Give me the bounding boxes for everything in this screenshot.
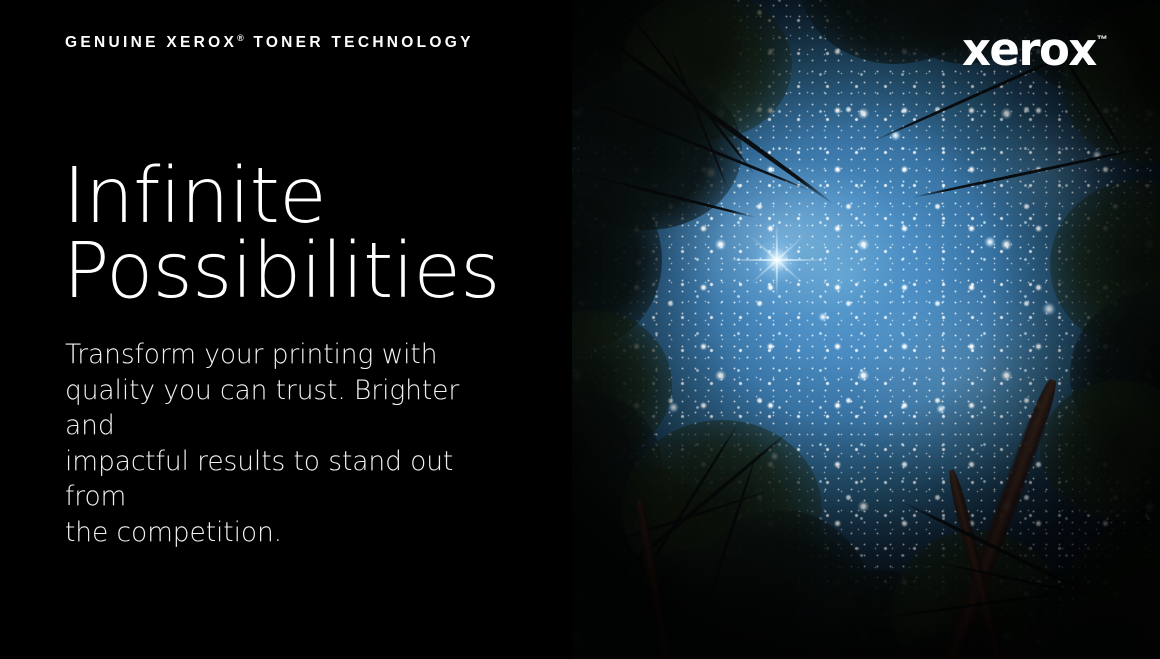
xerox-logo: xerox™	[962, 27, 1108, 72]
night-sky-photo	[572, 0, 1160, 659]
subcopy-line-3: impactful results to stand out from	[65, 444, 505, 515]
eyebrow-label: GENUINE XEROX® TONER TECHNOLOGY	[65, 33, 474, 52]
xerox-toner-banner: GENUINE XEROX® TONER TECHNOLOGY Infinite…	[0, 0, 1160, 659]
text-panel: GENUINE XEROX® TONER TECHNOLOGY Infinite…	[0, 0, 572, 659]
bright-star	[775, 258, 779, 262]
headline-line-2: Possibilities	[63, 235, 500, 310]
page-title: Infinite Possibilities	[63, 160, 500, 309]
headline-line-1: Infinite	[63, 160, 500, 235]
subcopy-text: Transform your printing with quality you…	[65, 337, 505, 550]
subcopy-line-1: Transform your printing with	[65, 337, 505, 373]
eyebrow-text-before: GENUINE XEROX	[65, 34, 237, 51]
photo-vignette	[572, 0, 1160, 659]
registered-trademark-icon: ®	[237, 33, 246, 43]
xerox-wordmark: xerox	[962, 23, 1096, 76]
trademark-icon: ™	[1097, 34, 1108, 46]
eyebrow-text-after: TONER TECHNOLOGY	[246, 34, 474, 51]
subcopy-line-2: quality you can trust. Brighter and	[65, 373, 505, 444]
subcopy-line-4: the competition.	[65, 515, 505, 551]
